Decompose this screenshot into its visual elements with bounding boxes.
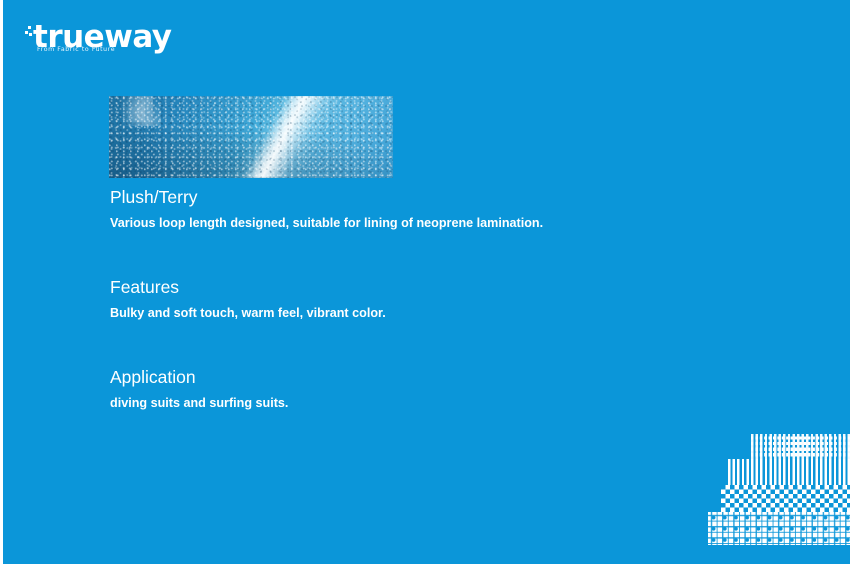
section-heading: Features: [110, 276, 386, 298]
section-body: Bulky and soft touch, warm feel, vibrant…: [110, 305, 386, 322]
product-image: [109, 96, 393, 178]
section-heading: Application: [110, 366, 288, 388]
slide-canvas: trueway From Fabric to Future Plush/Terr…: [0, 0, 850, 567]
section-body: diving suits and surfing suits.: [110, 395, 288, 412]
pattern-band-vertical-stripes: [728, 459, 850, 485]
section-features: Features Bulky and soft touch, warm feel…: [110, 276, 386, 322]
section-body: Various loop length designed, suitable f…: [110, 215, 543, 232]
section-heading: Plush/Terry: [110, 186, 543, 208]
section-application: Application diving suits and surfing sui…: [110, 366, 288, 412]
brand-logo[interactable]: trueway From Fabric to Future: [25, 21, 255, 61]
pattern-band-dashed-grid: [751, 434, 850, 459]
pattern-band-lace-dots: [708, 512, 850, 545]
pattern-band-checkerboard: [721, 485, 850, 512]
section-plush-terry: Plush/Terry Various loop length designed…: [110, 186, 543, 232]
brand-tagline: From Fabric to Future: [37, 46, 115, 53]
photo-bokeh-layer: [109, 96, 393, 178]
